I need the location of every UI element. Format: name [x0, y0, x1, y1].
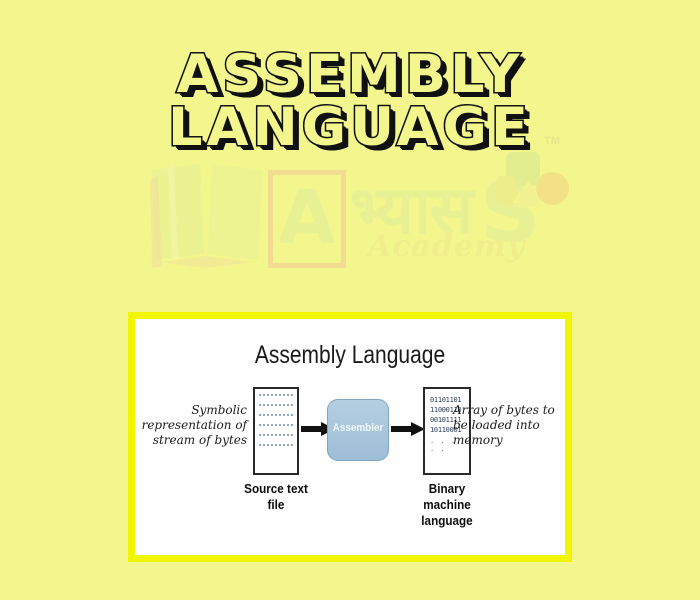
arrow-shaft — [301, 426, 323, 432]
logo-script-text: Academy — [368, 232, 525, 262]
logo-letter-box: A — [268, 170, 346, 268]
diagram-flow: Symbolic representation of stream of byt… — [135, 381, 565, 561]
diagram-panel: Assembly Language Symbolic representatio… — [128, 312, 572, 562]
open-book-icon — [148, 162, 266, 270]
page-title: ASSEMBLY LANGUAGE — [0, 48, 700, 154]
assembler-label: Assembler — [331, 422, 385, 434]
orange-circle-icon — [536, 172, 569, 205]
source-text-file-icon — [253, 387, 299, 475]
logo-letter-s: S — [480, 170, 541, 254]
hexagon-icon — [492, 176, 520, 204]
diagram-canvas: Assembly Language Symbolic representatio… — [135, 319, 565, 555]
caption-output-description: Array of bytes to be loaded into memory — [453, 403, 561, 448]
triangle-icon — [513, 180, 543, 207]
arrow-shaft — [391, 426, 413, 432]
label-source-text-file: Source text file — [240, 481, 312, 513]
text-line — [259, 424, 293, 426]
arrow-right-icon — [391, 422, 425, 436]
logo-letter: A — [273, 181, 341, 255]
text-line — [259, 394, 293, 396]
text-line — [259, 414, 293, 416]
logo-hindi-text: भ्यास — [350, 178, 471, 244]
assembler-box: Assembler — [327, 399, 389, 461]
label-binary-machine-language: Binary machine language — [411, 481, 483, 529]
watermark-logo: A भ्यास S Academy TM — [140, 140, 570, 290]
text-line — [259, 444, 293, 446]
caption-source-description: Symbolic representation of stream of byt… — [139, 403, 247, 448]
text-line — [259, 404, 293, 406]
diagram-title: Assembly Language — [169, 341, 530, 370]
text-line — [259, 434, 293, 436]
